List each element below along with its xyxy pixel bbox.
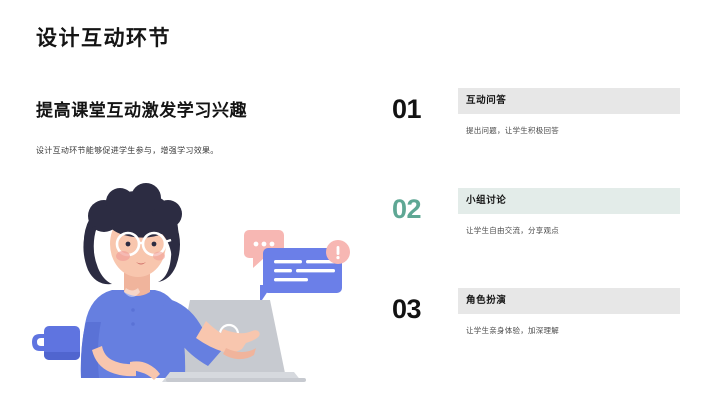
item-number: 02: [392, 196, 421, 223]
section-subtitle: 提高课堂互动激发学习兴趣: [36, 100, 366, 123]
interaction-method-list: 01 互动问答 提出问题，让学生积极回答 02 小组讨论 让学生自由交流，分享观…: [392, 88, 688, 388]
notification-badge: [326, 240, 350, 264]
item-body: 角色扮演 让学生亲身体验，加深理解: [458, 288, 688, 336]
coffee-mug-icon: [32, 326, 80, 360]
item-body: 小组讨论 让学生自由交流，分享观点: [458, 188, 688, 236]
item-description: 让学生亲身体验，加深理解: [458, 314, 688, 336]
list-item[interactable]: 03 角色扮演 让学生亲身体验，加深理解: [392, 288, 688, 388]
laptop-base: [162, 372, 306, 382]
left-content-column: 提高课堂互动激发学习兴趣 设计互动环节能够促进学生参与，增强学习效果。: [36, 100, 366, 158]
item-number: 03: [392, 296, 421, 323]
page-title: 设计互动环节: [36, 26, 171, 51]
item-heading: 小组讨论: [458, 188, 680, 214]
item-description: 让学生自由交流，分享观点: [458, 214, 688, 236]
woman-figure: [81, 183, 260, 380]
chat-bubble-group: [244, 230, 350, 303]
item-heading: 角色扮演: [458, 288, 680, 314]
item-body: 互动问答 提出问题，让学生积极回答: [458, 88, 688, 136]
slide-root: 设计互动环节 提高课堂互动激发学习兴趣 设计互动环节能够促进学生参与，增强学习效…: [0, 0, 720, 404]
section-body-text: 设计互动环节能够促进学生参与，增强学习效果。: [36, 145, 366, 158]
list-item[interactable]: 02 小组讨论 让学生自由交流，分享观点: [392, 188, 688, 288]
item-heading: 互动问答: [458, 88, 680, 114]
illustration-woman-chat: [20, 182, 364, 382]
item-description: 提出问题，让学生积极回答: [458, 114, 688, 136]
item-number: 01: [392, 96, 421, 123]
list-item[interactable]: 01 互动问答 提出问题，让学生积极回答: [392, 88, 688, 188]
